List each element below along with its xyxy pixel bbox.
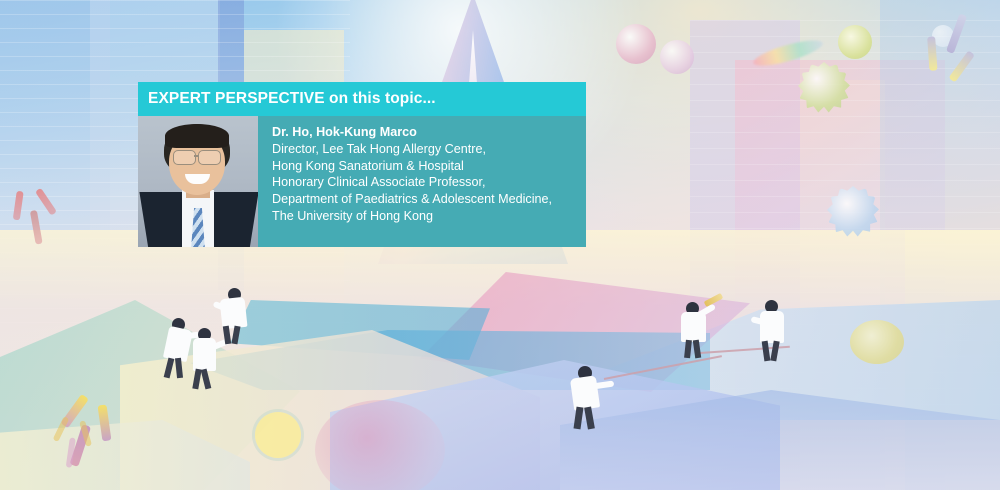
expert-affiliation-line-4: Department of Paediatrics & Adolescent M… (272, 191, 552, 208)
avatar-glasses-bridge (194, 155, 199, 157)
scientist-figure-icon-4 (566, 366, 614, 430)
expert-affiliation-line-2: Hong Kong Sanatorium & Hospital (272, 158, 552, 175)
yellow-ring-shape (255, 412, 301, 458)
virus-cell-icon-1 (616, 24, 656, 64)
expert-perspective-header-label: EXPERT PERSPECTIVE on this topic... (148, 90, 436, 108)
virus-cell-icon-3 (838, 25, 872, 59)
expert-perspective-header: EXPERT PERSPECTIVE on this topic... (138, 82, 586, 116)
expert-details: Dr. Ho, Hok-Kung Marco Director, Lee Tak… (258, 116, 562, 247)
scientist-figure-icon-5 (674, 298, 722, 358)
expert-perspective-panel: EXPERT PERSPECTIVE on this topic... Dr. … (138, 82, 586, 247)
expert-affiliation-line-1: Director, Lee Tak Hong Allergy Centre, (272, 141, 552, 158)
banner-illustration: EXPERT PERSPECTIVE on this topic... Dr. … (0, 0, 1000, 490)
avatar-glasses-left (173, 150, 196, 165)
expert-name: Dr. Ho, Hok-Kung Marco (272, 124, 552, 141)
expert-perspective-body: Dr. Ho, Hok-Kung Marco Director, Lee Tak… (138, 116, 586, 247)
expert-affiliation-line-3: Honorary Clinical Associate Professor, (272, 174, 552, 191)
scientist-figure-icon-3 (212, 288, 258, 346)
avatar-hair-top (165, 124, 229, 148)
antibody-icon-3 (3, 183, 70, 250)
expert-avatar (138, 116, 258, 247)
virus-cell-icon-2 (660, 40, 694, 74)
expert-affiliation-line-5: The University of Hong Kong (272, 208, 552, 225)
antibody-icon-4 (45, 415, 104, 474)
scientist-figure-icon-6 (752, 300, 796, 362)
pink-blob-shape (315, 400, 445, 490)
virus-cell-icon-6 (850, 320, 904, 364)
avatar-glasses-right (198, 150, 221, 165)
